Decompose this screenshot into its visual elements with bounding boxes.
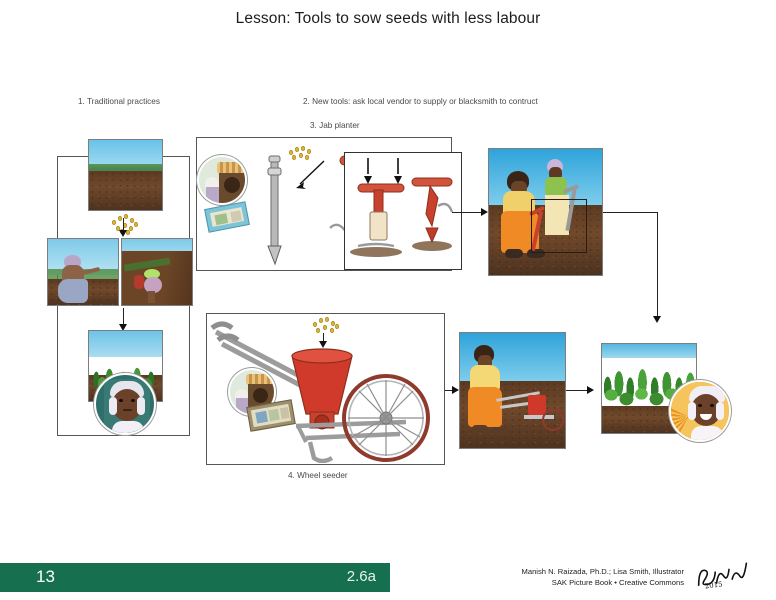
connector-jab-field-top [603,212,658,213]
panel-wheel-field-scene [459,332,566,449]
section-label-new-tools: 2. New tools: ask local vendor to supply… [303,97,538,106]
credit-line-authors: Manish N. Raizada, Ph.D.; Lisa Smith, Il… [522,566,684,577]
connector-jab-to-field [452,212,484,213]
jab-field-zoom-outline [531,199,587,253]
section-label-traditional: 1. Traditional practices [78,97,160,106]
page-number: 13 [36,567,55,587]
section-label-wheel-seeder: 4. Wheel seeder [288,471,348,480]
credit-line-source: SAK Picture Book • Creative Commons [522,577,684,588]
portrait-happy-farmer [669,380,731,442]
illustration-dibble-stick [262,148,288,266]
section-label-jab-planter: 3. Jab planter [310,121,360,130]
illustrator-signature: 2015 [692,558,757,597]
footer-bar: 13 2.6a [0,563,390,592]
panel-broadcast-sowing [47,238,119,306]
connector-jab-field-down [657,212,658,319]
signature-year: 2015 [704,580,723,590]
panel-bare-field [88,139,163,211]
figure-code: 2.6a [347,568,376,585]
panel-bending-sowing [121,238,193,306]
page-title: Lesson: Tools to sow seeds with less lab… [0,10,776,28]
arrow-down-to-good-crop [653,316,661,323]
arrow-right-to-jab-field [481,208,488,216]
portrait-unhappy-farmer [94,373,156,435]
panel-jab-field-scene [488,148,603,276]
arrow-down-to-sowing [119,230,127,237]
arrow-right-to-good-crop [587,386,594,394]
medallion-vendor-shop [197,155,247,205]
arrow-right-to-wheel-field [452,386,459,394]
slide-page: Lesson: Tools to sow seeds with less lab… [0,0,776,600]
credits-block: Manish N. Raizada, Ph.D.; Lisa Smith, Il… [522,566,684,588]
jab-planter-detail-drawing [346,154,460,268]
